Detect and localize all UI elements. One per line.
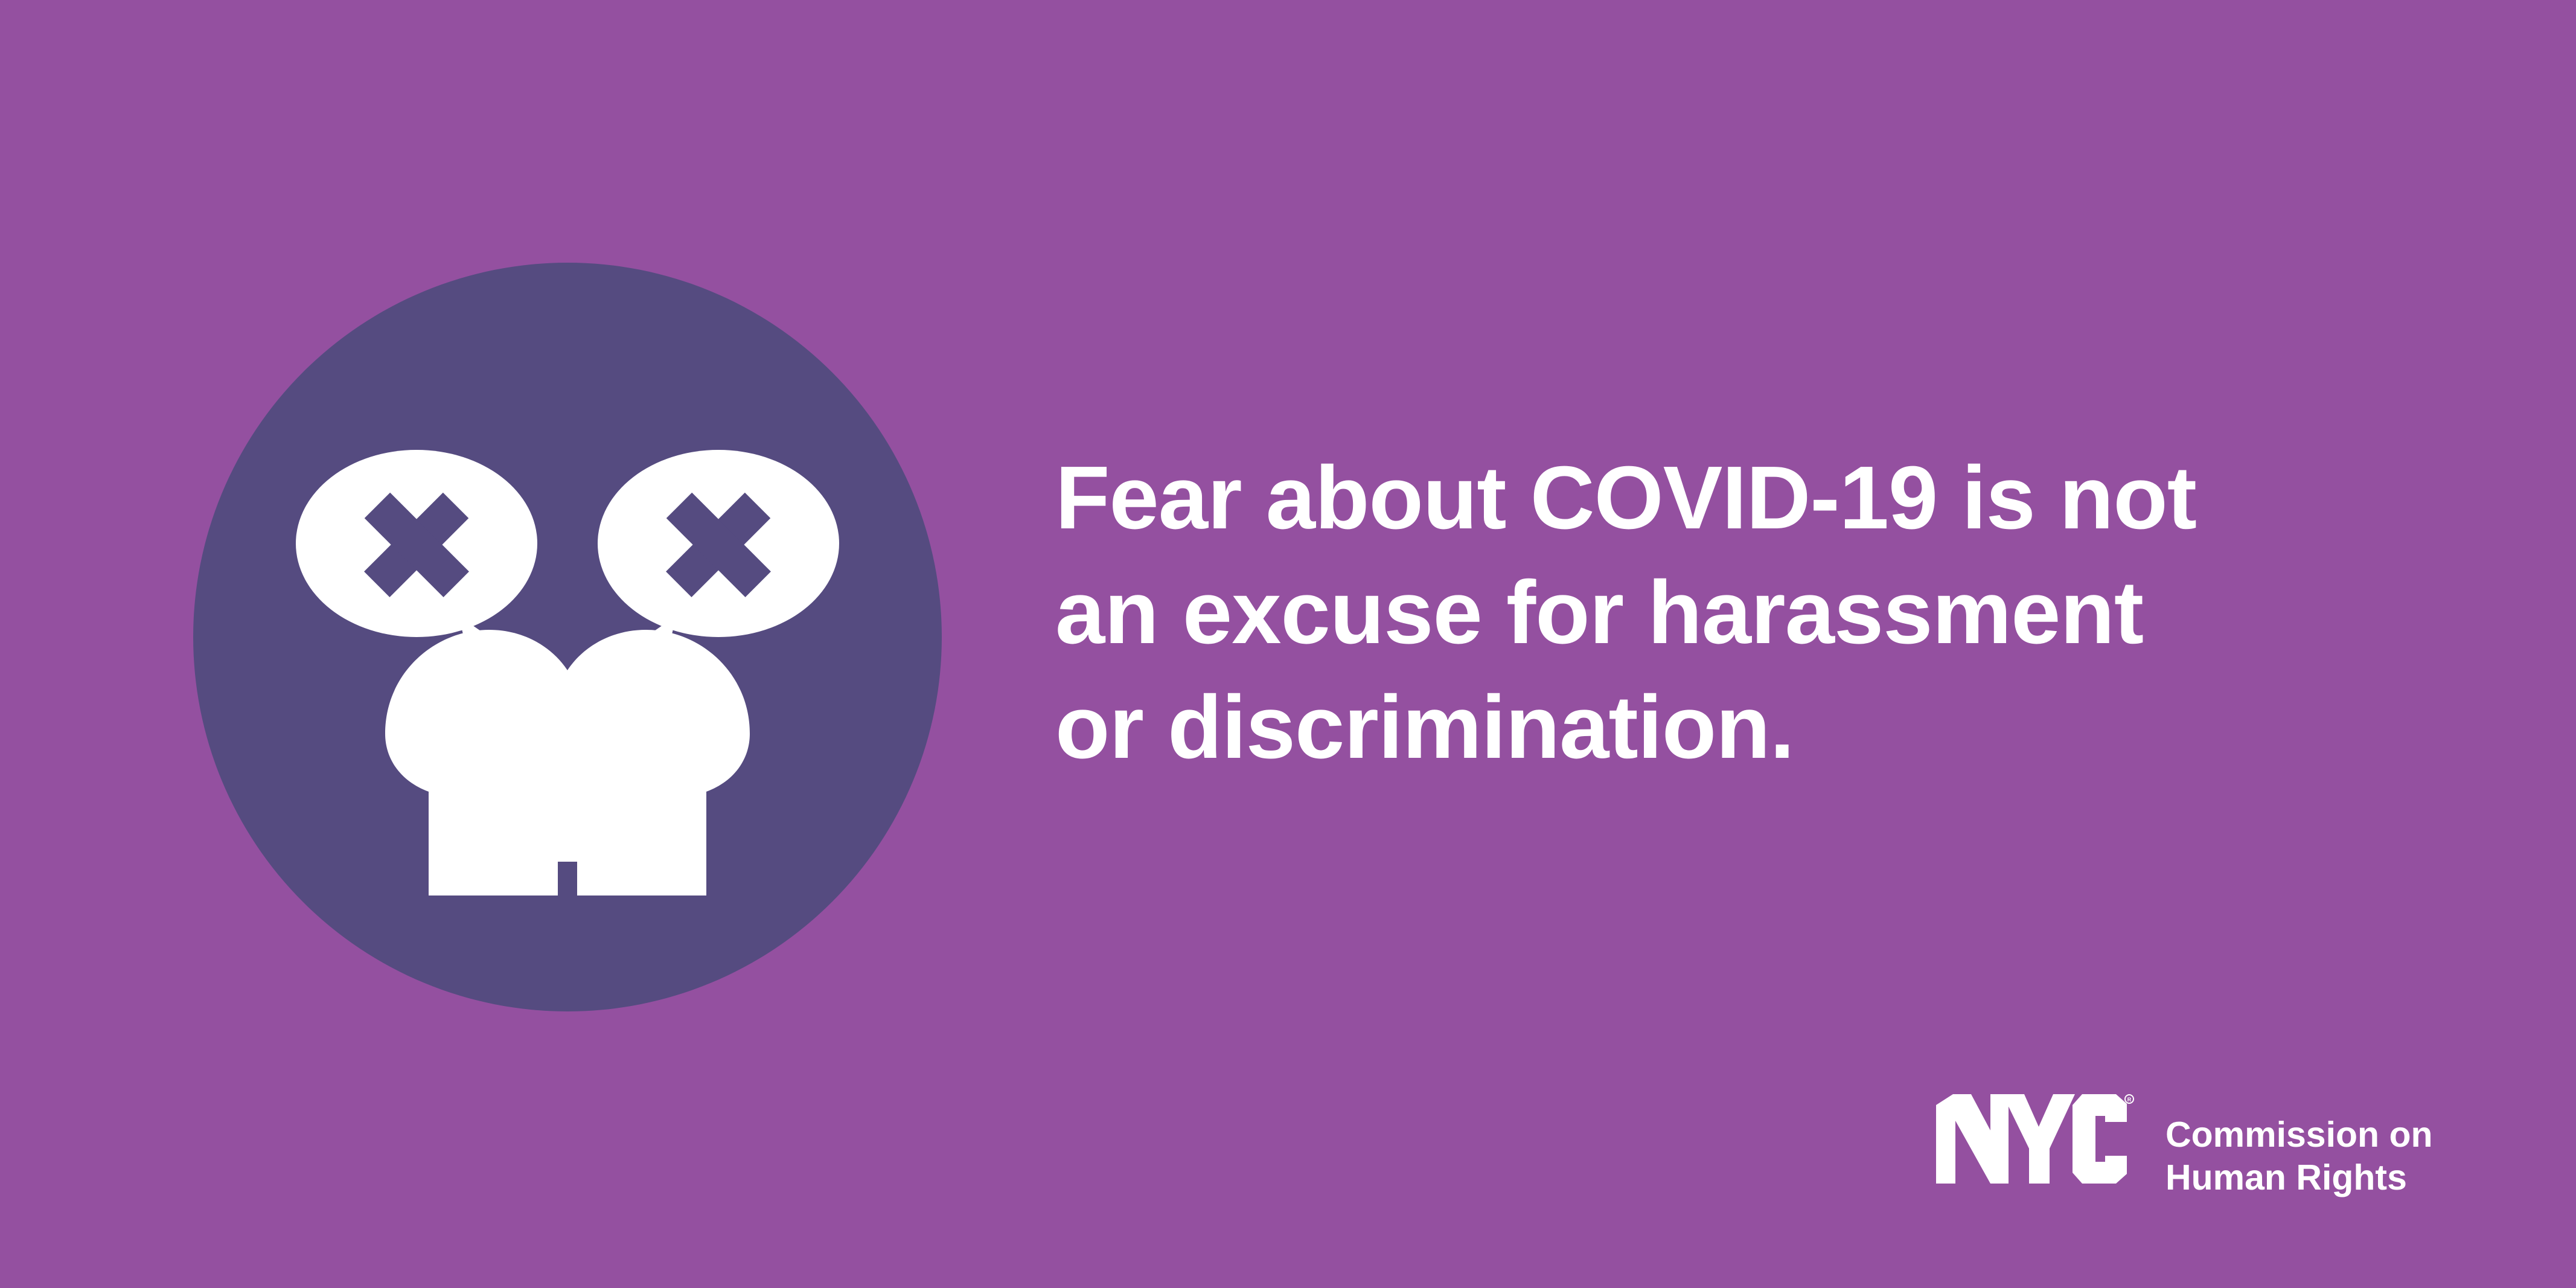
two-people-speech-bubbles-x-icon bbox=[193, 263, 942, 1011]
nyc-logo-icon: R bbox=[1935, 1093, 2134, 1193]
nyc-wordmark-logo: R bbox=[1935, 1093, 2134, 1193]
headline-line-1: Fear about COVID-19 is not bbox=[1055, 441, 2383, 556]
poster-canvas: Fear about COVID-19 is not an excuse for… bbox=[0, 0, 2576, 1288]
nyc-letter-n bbox=[1936, 1094, 2009, 1184]
badge-circle bbox=[193, 263, 942, 1011]
logo-lockup: R Commission on Human Rights bbox=[1935, 1093, 2433, 1199]
agency-name-line-2: Human Rights bbox=[2165, 1156, 2433, 1199]
illustration-badge bbox=[193, 263, 942, 1011]
headline: Fear about COVID-19 is not an excuse for… bbox=[1055, 441, 2383, 785]
headline-line-2: an excuse for harassment bbox=[1055, 556, 2383, 670]
nyc-letter-y bbox=[2002, 1094, 2075, 1184]
agency-name-line-1: Commission on bbox=[2165, 1113, 2433, 1156]
agency-name: Commission on Human Rights bbox=[2165, 1093, 2433, 1199]
nyc-letter-c bbox=[2073, 1094, 2127, 1184]
headline-line-3: or discrimination. bbox=[1055, 670, 2383, 785]
registered-trademark-icon: R bbox=[2125, 1095, 2133, 1103]
svg-text:R: R bbox=[2127, 1097, 2132, 1103]
